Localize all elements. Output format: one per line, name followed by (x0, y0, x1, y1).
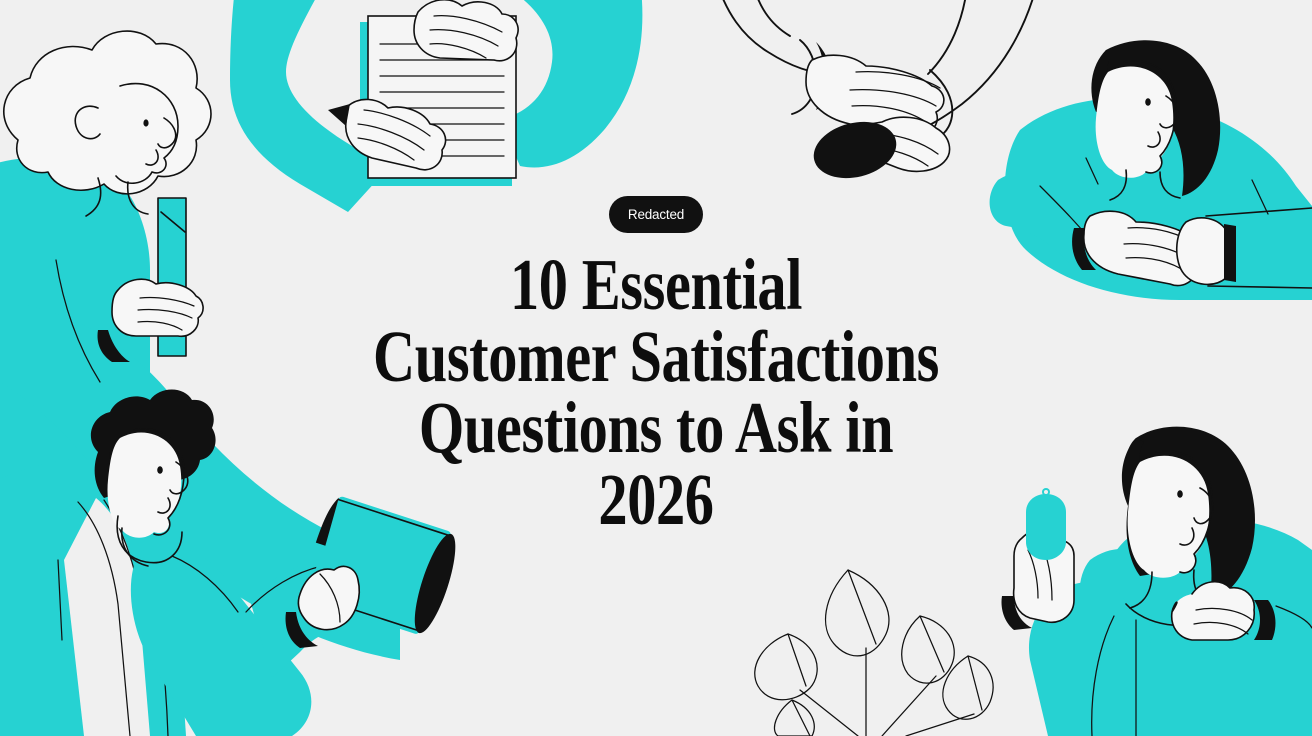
status-badge[interactable]: Redacted (609, 196, 703, 233)
poster-canvas: .tl { fill:#26d2d2; } .sk { fill:#f7f7f7… (0, 0, 1312, 736)
illustration-layer: .tl { fill:#26d2d2; } .sk { fill:#f7f7f7… (0, 0, 1312, 736)
